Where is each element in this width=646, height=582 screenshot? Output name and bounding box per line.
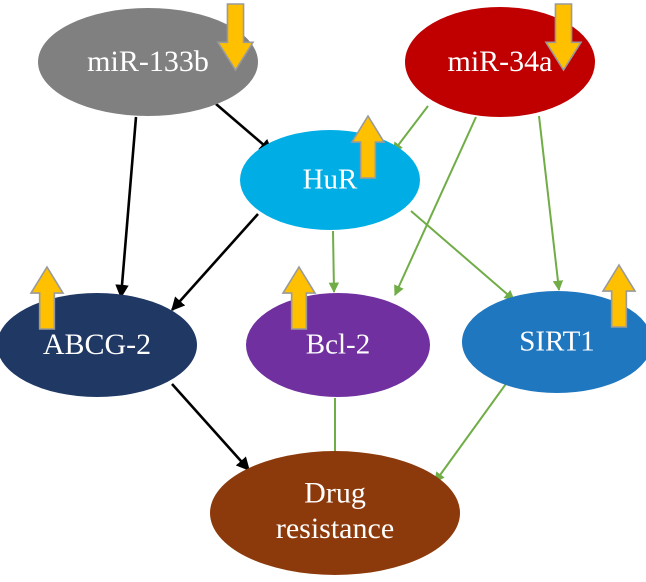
- edge-mir133b-hur: [216, 104, 272, 152]
- node-layer: miR-133bmiR-34aHuRABCG-2Bcl-2SIRT1Drugre…: [0, 7, 646, 575]
- node-shape-mir133b: [38, 8, 258, 116]
- node-shape-bcl2: [246, 293, 430, 397]
- edge-mir34a-hur: [393, 106, 428, 152]
- pathway-canvas: miR-133bmiR-34aHuRABCG-2Bcl-2SIRT1Drugre…: [0, 0, 646, 582]
- node-shape-abcg2: [0, 293, 197, 397]
- edge-sirt1-drug: [435, 381, 508, 482]
- node-drug_resistance[interactable]: Drugresistance: [210, 451, 460, 575]
- edge-abcg2-drug: [172, 384, 249, 470]
- node-abcg2[interactable]: ABCG-2: [0, 293, 197, 397]
- edge-hur-sirt1: [411, 211, 514, 300]
- edge-mir34a-bcl2: [395, 117, 476, 295]
- edge-hur-bcl2: [333, 231, 334, 292]
- node-bcl2[interactable]: Bcl-2: [246, 293, 430, 397]
- pathway-diagram: miR-133bmiR-34aHuRABCG-2Bcl-2SIRT1Drugre…: [0, 0, 646, 582]
- node-shape-hur: [240, 130, 420, 230]
- edge-mir34a-sirt1: [539, 116, 559, 290]
- node-mir133b[interactable]: miR-133b: [38, 8, 258, 116]
- node-hur[interactable]: HuR: [240, 130, 420, 230]
- edge-hur-abcg2: [172, 214, 258, 310]
- edge-mir133b-abcg2: [121, 117, 136, 297]
- node-shape-drug_resistance: [210, 451, 460, 575]
